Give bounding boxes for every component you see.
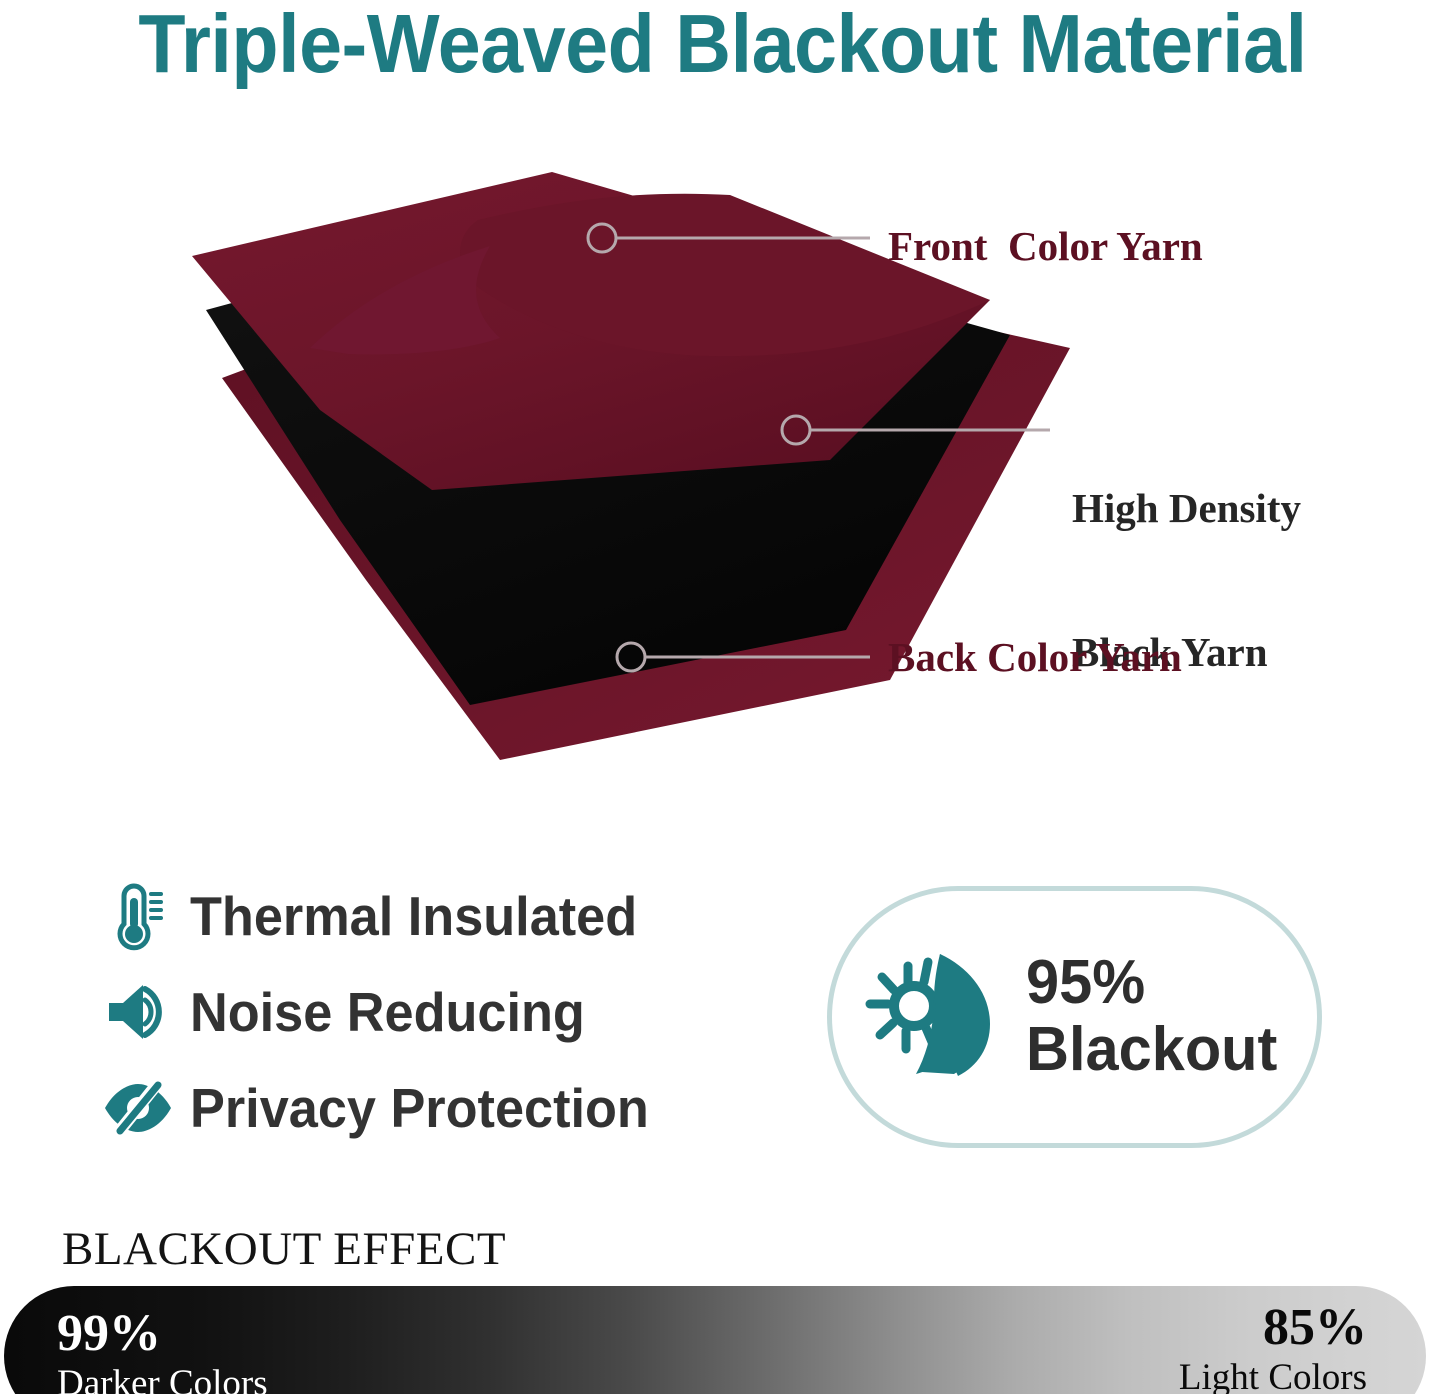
blackout-percent: 95%: [1026, 950, 1277, 1016]
blackout-word: Blackout: [1026, 1016, 1277, 1084]
blackout-badge: 95% Blackout: [827, 886, 1322, 1148]
callout-label-back-color-yarn: Back Color Yarn: [888, 633, 1182, 681]
blackout-effect-heading: BLACKOUT EFFECT: [62, 1222, 506, 1276]
blackout-effect-light-colors: 85% Light Colors: [1179, 1300, 1367, 1394]
feature-list: Thermal Insulated Noise Reducing: [100, 872, 760, 1160]
page-title: Triple-Weaved Blackout Material: [51, 0, 1395, 94]
speaker-icon: [100, 976, 176, 1048]
feature-label: Noise Reducing: [190, 982, 585, 1042]
callout-label-front-color-yarn: Front Color Yarn: [888, 222, 1203, 270]
feature-thermal-insulated: Thermal Insulated: [100, 872, 760, 960]
callout-label-high-density-black-yarn: High Density Black Yarn: [1072, 388, 1301, 772]
infographic-page: Triple-Weaved Blackout Material: [0, 0, 1445, 1394]
blackout-effect-darker-colors: 99% Darker Colors: [57, 1306, 268, 1394]
light-colors-caption: Light Colors: [1179, 1357, 1367, 1394]
thermometer-icon: [100, 880, 176, 952]
light-colors-percent: 85%: [1179, 1300, 1367, 1355]
callout-label-line-1: High Density: [1072, 484, 1301, 532]
blackout-badge-text: 95% Blackout: [1026, 950, 1288, 1084]
feature-label: Thermal Insulated: [190, 886, 637, 946]
eye-slash-icon: [100, 1072, 176, 1144]
feature-privacy-protection: Privacy Protection: [100, 1064, 760, 1152]
feature-noise-reducing: Noise Reducing: [100, 968, 760, 1056]
feature-label: Privacy Protection: [190, 1078, 649, 1138]
sun-curtain-icon: [862, 942, 1012, 1092]
darker-colors-caption: Darker Colors: [57, 1363, 268, 1394]
darker-colors-percent: 99%: [57, 1306, 268, 1361]
